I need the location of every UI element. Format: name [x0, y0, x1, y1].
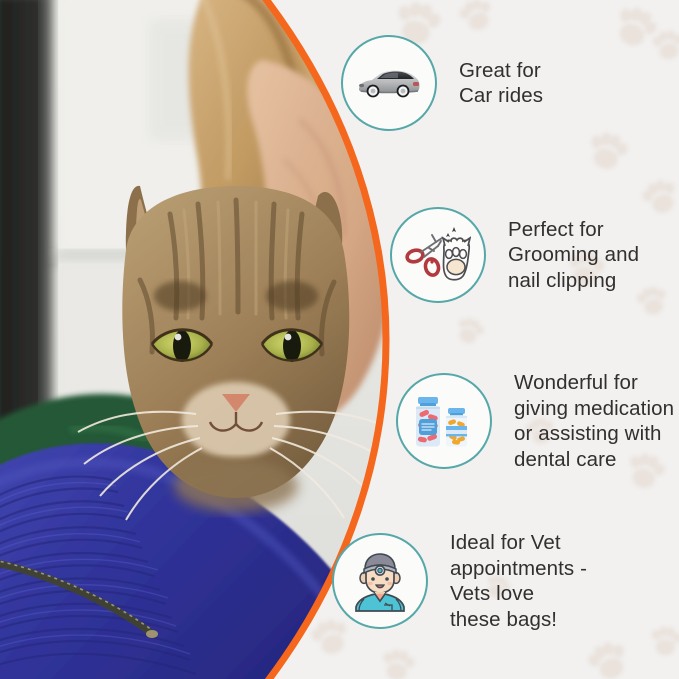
- car-icon: [356, 63, 422, 103]
- nail-clippers-and-paw-icon: [405, 226, 471, 284]
- product-feature-infographic: Great for Car rides: [0, 0, 679, 679]
- feature-icon-circle: [390, 207, 486, 303]
- feature-icon-circle: [341, 35, 437, 131]
- feature-label: Ideal for Vet appointments - Vets love t…: [450, 530, 587, 632]
- feature-item-vet-appointments[interactable]: Ideal for Vet appointments - Vets love t…: [332, 530, 587, 632]
- feature-label: Great for Car rides: [459, 58, 543, 109]
- feature-item-grooming[interactable]: Perfect for Grooming and nail clipping: [390, 207, 639, 303]
- feature-list: Great for Car rides: [0, 0, 679, 679]
- feature-label: Wonderful for giving medication or assis…: [514, 370, 674, 472]
- feature-label: Perfect for Grooming and nail clipping: [508, 217, 639, 294]
- veterinarian-icon: [348, 550, 412, 612]
- feature-icon-circle: [396, 373, 492, 469]
- feature-icon-circle: [332, 533, 428, 629]
- feature-item-medication[interactable]: Wonderful for giving medication or assis…: [396, 370, 674, 472]
- pill-bottles-icon: [411, 391, 477, 451]
- feature-item-car-rides[interactable]: Great for Car rides: [341, 35, 543, 131]
